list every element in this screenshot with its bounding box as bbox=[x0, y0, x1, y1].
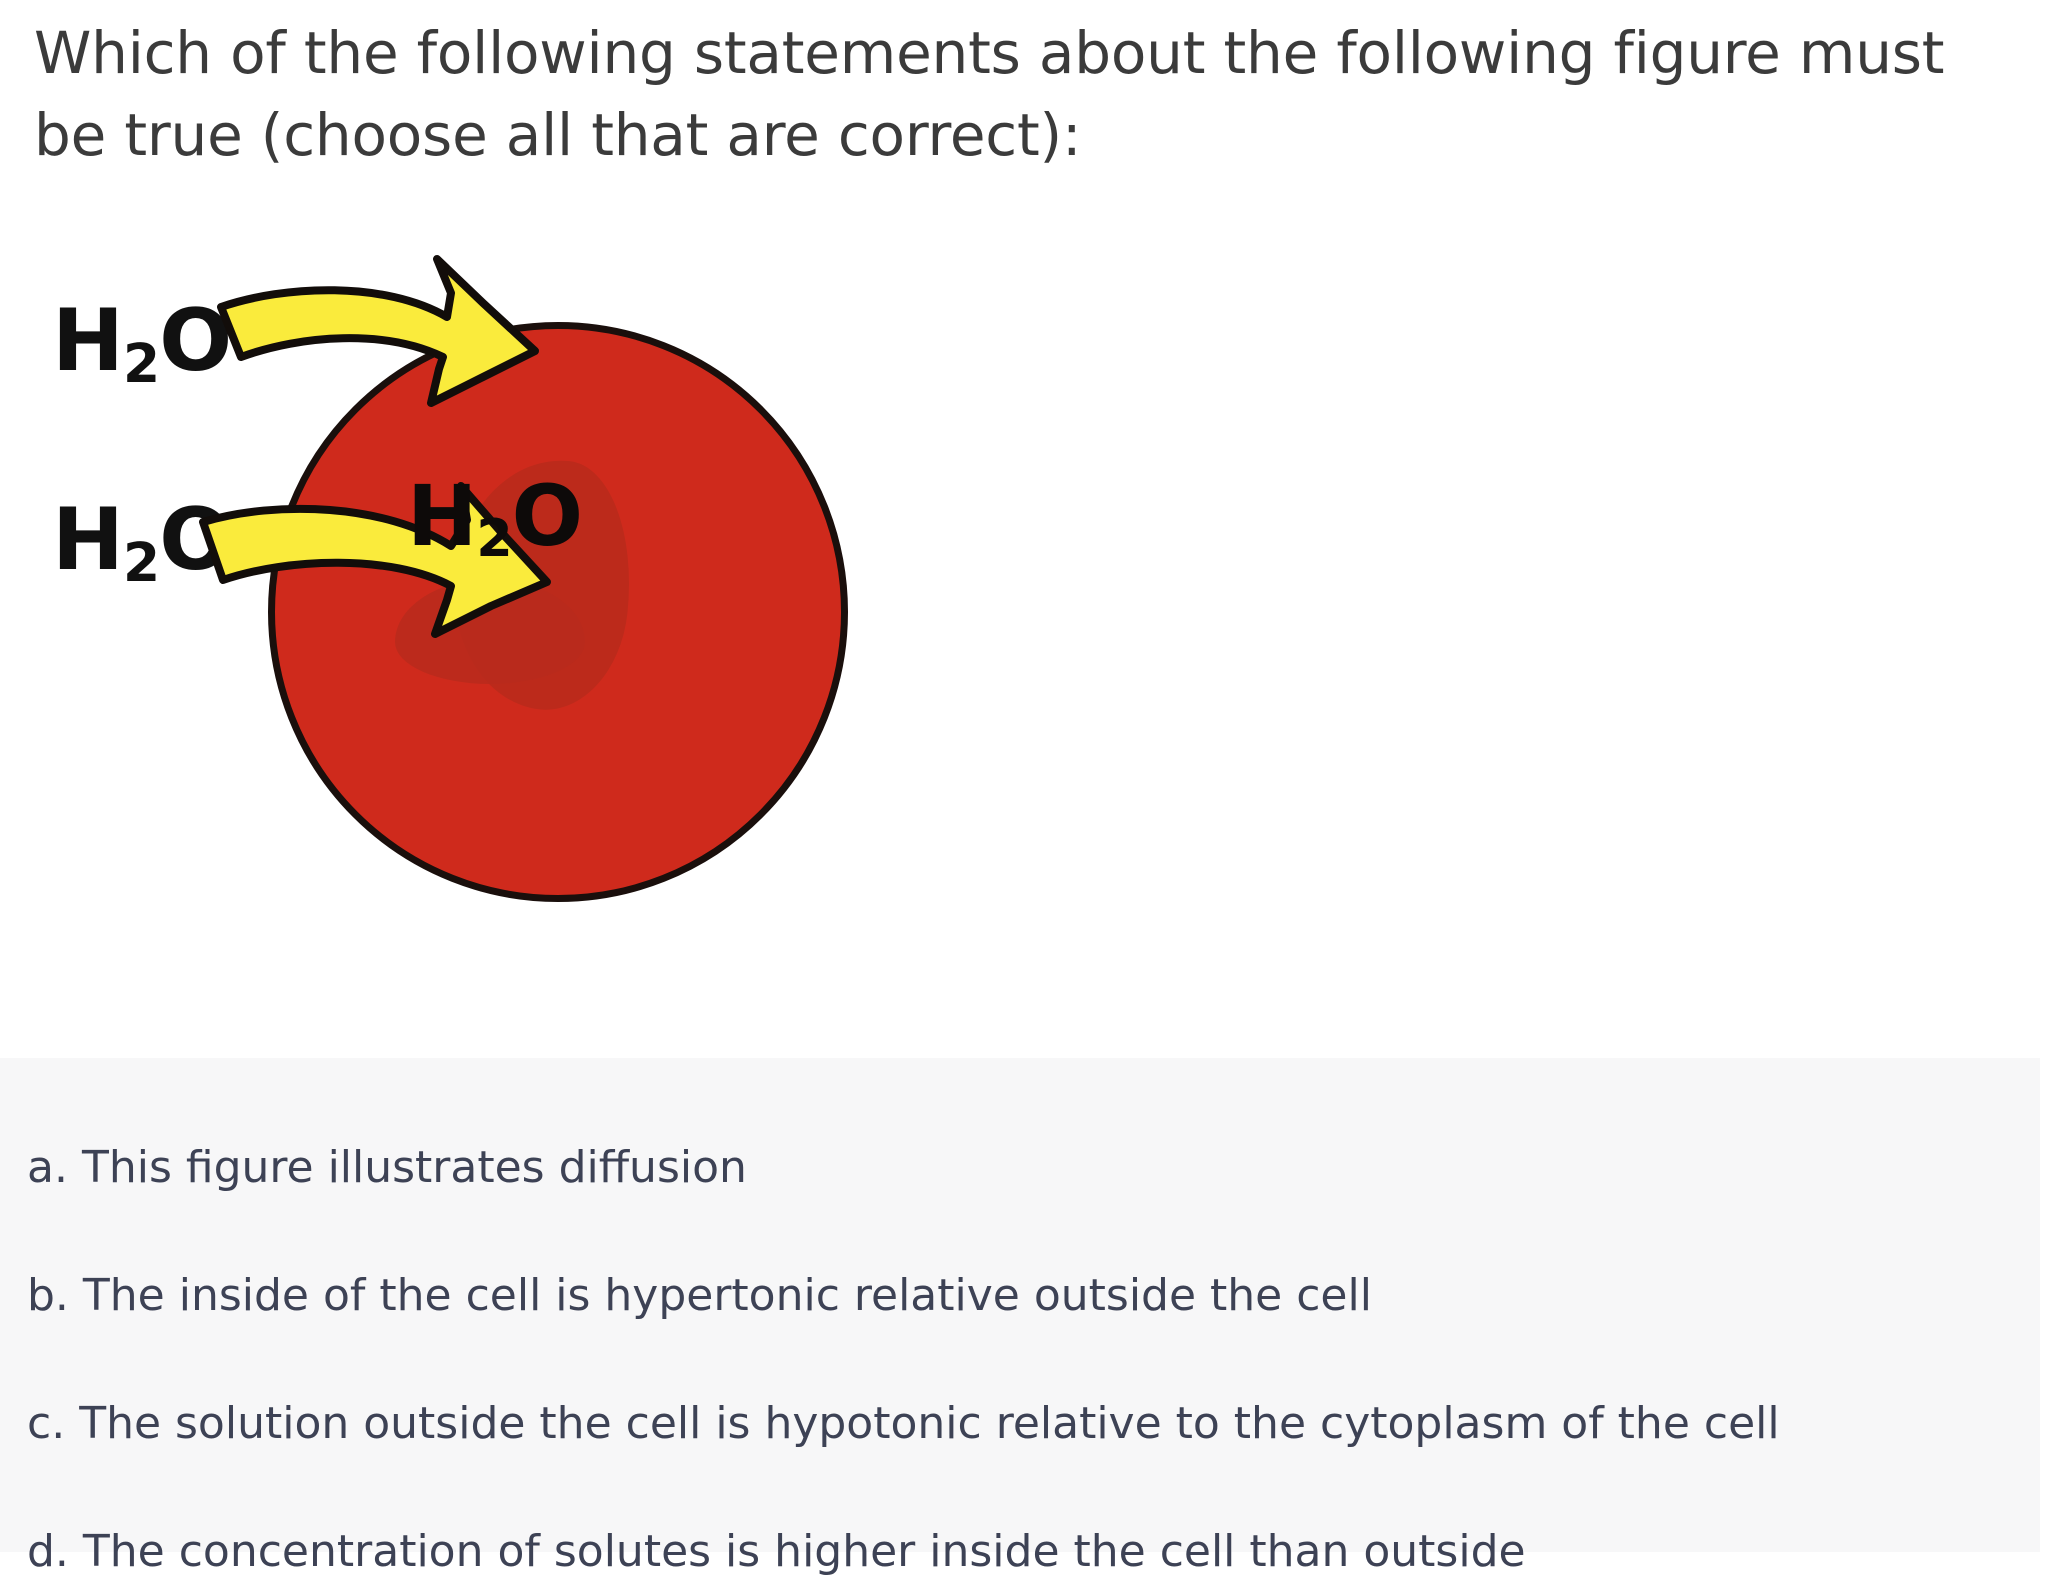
question-area: Which of the following statements about … bbox=[0, 0, 2040, 1058]
option-c-letter: c. bbox=[27, 1398, 65, 1449]
question-prompt: Which of the following statements about … bbox=[34, 12, 2014, 176]
option-b[interactable]: b. The inside of the cell is hypertonic … bbox=[27, 1270, 1372, 1322]
answer-options-panel: a. This figure illustrates diffusion b. … bbox=[0, 1058, 2040, 1552]
h2o-inside-subscript: 2 bbox=[476, 509, 511, 569]
option-c[interactable]: c. The solution outside the cell is hypo… bbox=[27, 1398, 1780, 1450]
h2o-bottom-prefix: H bbox=[52, 490, 123, 590]
h2o-bottom-subscript: 2 bbox=[123, 532, 159, 594]
option-a[interactable]: a. This figure illustrates diffusion bbox=[27, 1142, 747, 1194]
h2o-label-inside-cell: H2O bbox=[407, 474, 582, 558]
h2o-top-subscript: 2 bbox=[123, 333, 159, 395]
option-a-text: This figure illustrates diffusion bbox=[82, 1142, 747, 1193]
right-gutter bbox=[2040, 0, 2048, 1552]
option-a-letter: a. bbox=[27, 1142, 68, 1193]
h2o-label-outside-top: H2O bbox=[52, 298, 231, 384]
h2o-inside-prefix: H bbox=[407, 467, 476, 565]
osmosis-figure: H2O H2O H2O bbox=[0, 225, 1200, 945]
option-d[interactable]: d. The concentration of solutes is highe… bbox=[27, 1526, 1526, 1578]
h2o-top-prefix: H bbox=[52, 291, 123, 391]
option-b-letter: b. bbox=[27, 1270, 69, 1321]
option-c-text: The solution outside the cell is hypoton… bbox=[79, 1398, 1779, 1449]
h2o-inside-suffix: O bbox=[512, 467, 582, 565]
option-b-text: The inside of the cell is hypertonic rel… bbox=[83, 1270, 1372, 1321]
